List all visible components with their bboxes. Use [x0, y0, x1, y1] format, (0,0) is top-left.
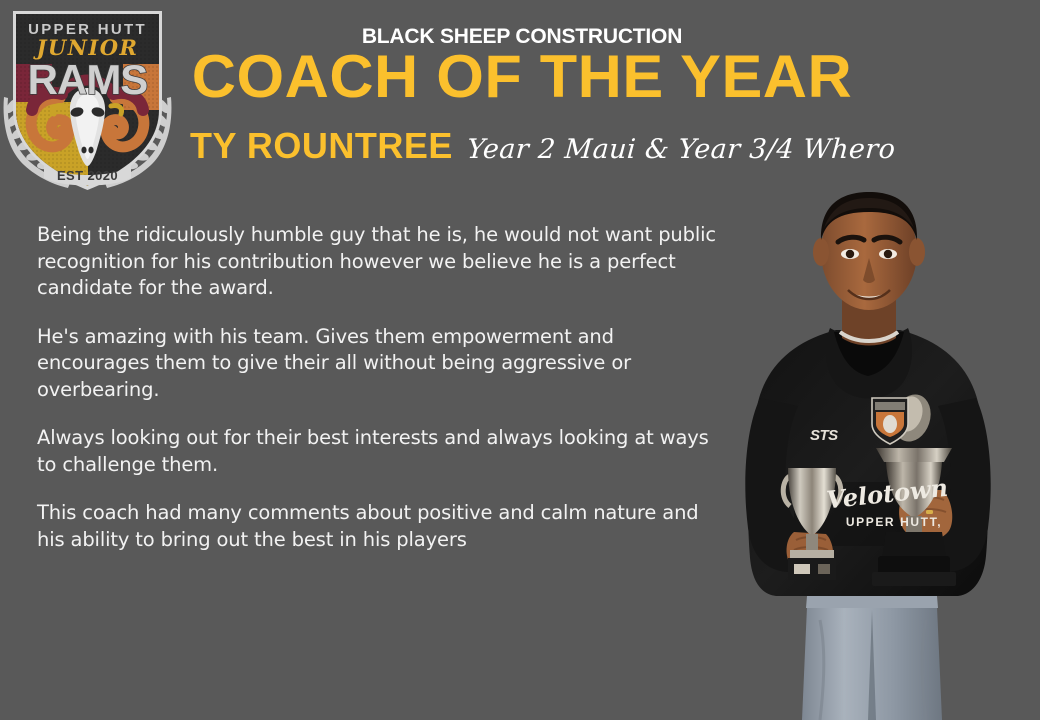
citation-text: Being the ridiculously humble guy that h…: [37, 222, 727, 553]
crest-line-rams: RAMS: [28, 56, 148, 103]
citation-paragraph: This coach had many comments about posit…: [37, 500, 727, 553]
hoodie-brand-text: STS: [810, 427, 838, 444]
citation-paragraph: He's amazing with his team. Gives them e…: [37, 324, 727, 404]
head: [813, 192, 925, 310]
citation-paragraph: Always looking out for their best intere…: [37, 425, 727, 478]
hoodie-print-line2: UPPER HUTT,: [846, 515, 942, 529]
crest-svg: UPPER HUTT JUNIOR RAMS EST 2020: [0, 2, 175, 198]
recipient-teams: Year 2 Maui & Year 3/4 Whero: [466, 134, 897, 166]
jeans: [802, 584, 942, 720]
ring: [926, 510, 933, 514]
coach-photo-svg: STS Velotown UPPER HUTT,: [690, 180, 1040, 720]
page-title: COACH OF THE YEAR: [166, 44, 878, 110]
recipient-name: TY ROUNTREE: [190, 126, 453, 166]
club-crest-logo: UPPER HUTT JUNIOR RAMS EST 2020: [0, 2, 175, 198]
crest-established: EST 2020: [57, 168, 118, 183]
award-poster: UPPER HUTT JUNIOR RAMS EST 2020 BLACK SH…: [0, 0, 1040, 720]
citation-paragraph: Being the ridiculously humble guy that h…: [37, 222, 727, 302]
coach-photo: STS Velotown UPPER HUTT,: [690, 180, 1040, 720]
recipient-row: TY ROUNTREE Year 2 Maui & Year 3/4 Whero: [190, 126, 895, 172]
